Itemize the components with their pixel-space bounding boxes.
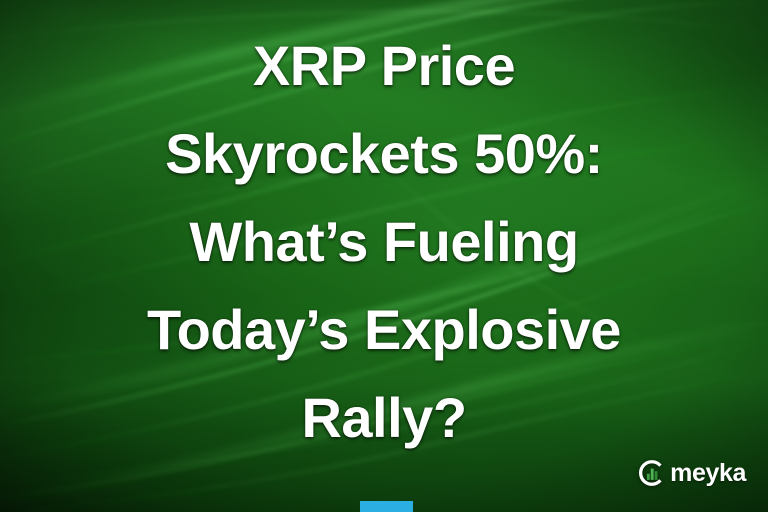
meyka-logo[interactable]: meyka [637,458,746,488]
bottom-accent-chip [360,501,413,512]
circle-bar-chart-icon [637,458,667,488]
meyka-wordmark: meyka [670,461,746,486]
headline-line-4: Today’s Explosive [18,286,750,374]
headline-line-2: Skyrockets 50%: [18,110,750,198]
headline-line-5: Rally? [18,374,750,462]
headline: XRP Price Skyrockets 50%: What’s Fueling… [0,22,768,462]
social-title-card: XRP Price Skyrockets 50%: What’s Fueling… [0,0,768,512]
headline-line-1: XRP Price [18,22,750,110]
headline-line-3: What’s Fueling [18,198,750,286]
